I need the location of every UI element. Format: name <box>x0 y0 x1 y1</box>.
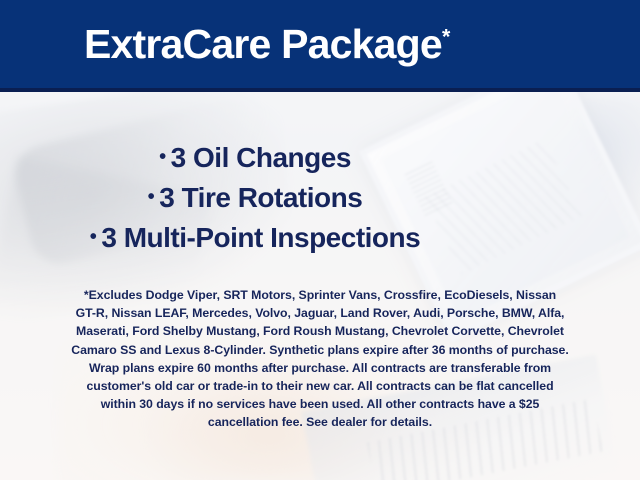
benefit-item-oil-changes: •3 Oil Changes <box>0 138 510 178</box>
header-bar: ExtraCare Package* <box>0 0 640 92</box>
disclaimer-line: Maserati, Ford Shelby Mustang, Ford Rous… <box>30 322 610 340</box>
bullet-icon: • <box>148 186 155 208</box>
benefit-item-tire-rotations: •3 Tire Rotations <box>0 178 510 218</box>
page-title-asterisk: * <box>442 24 450 48</box>
disclaimer-line: customer's old car or trade-in to their … <box>30 377 610 395</box>
disclaimer-line: within 30 days if no services have been … <box>30 395 610 413</box>
page-title: ExtraCare Package* <box>84 24 449 65</box>
benefit-label: 3 Tire Rotations <box>159 182 362 213</box>
page-title-text: ExtraCare Package <box>84 21 442 67</box>
disclaimer-line: cancellation fee. See dealer for details… <box>30 413 610 431</box>
disclaimer-line: GT-R, Nissan LEAF, Mercedes, Volvo, Jagu… <box>30 304 610 322</box>
bullet-icon: • <box>90 226 97 248</box>
disclaimer-line: Camaro SS and Lexus 8-Cylinder. Syntheti… <box>30 341 610 359</box>
benefit-item-multi-point-inspections: •3 Multi-Point Inspections <box>0 218 510 258</box>
disclaimer-text: *Excludes Dodge Viper, SRT Motors, Sprin… <box>30 286 610 432</box>
disclaimer-line: Wrap plans expire 60 months after purcha… <box>30 359 610 377</box>
benefit-label: 3 Multi-Point Inspections <box>101 222 420 253</box>
benefit-label: 3 Oil Changes <box>171 142 351 173</box>
bullet-icon: • <box>159 146 166 168</box>
extracare-package-ad: ExtraCare Package* •3 Oil Changes •3 Tir… <box>0 0 640 480</box>
disclaimer-line: *Excludes Dodge Viper, SRT Motors, Sprin… <box>30 286 610 304</box>
benefits-list: •3 Oil Changes •3 Tire Rotations •3 Mult… <box>0 138 640 257</box>
